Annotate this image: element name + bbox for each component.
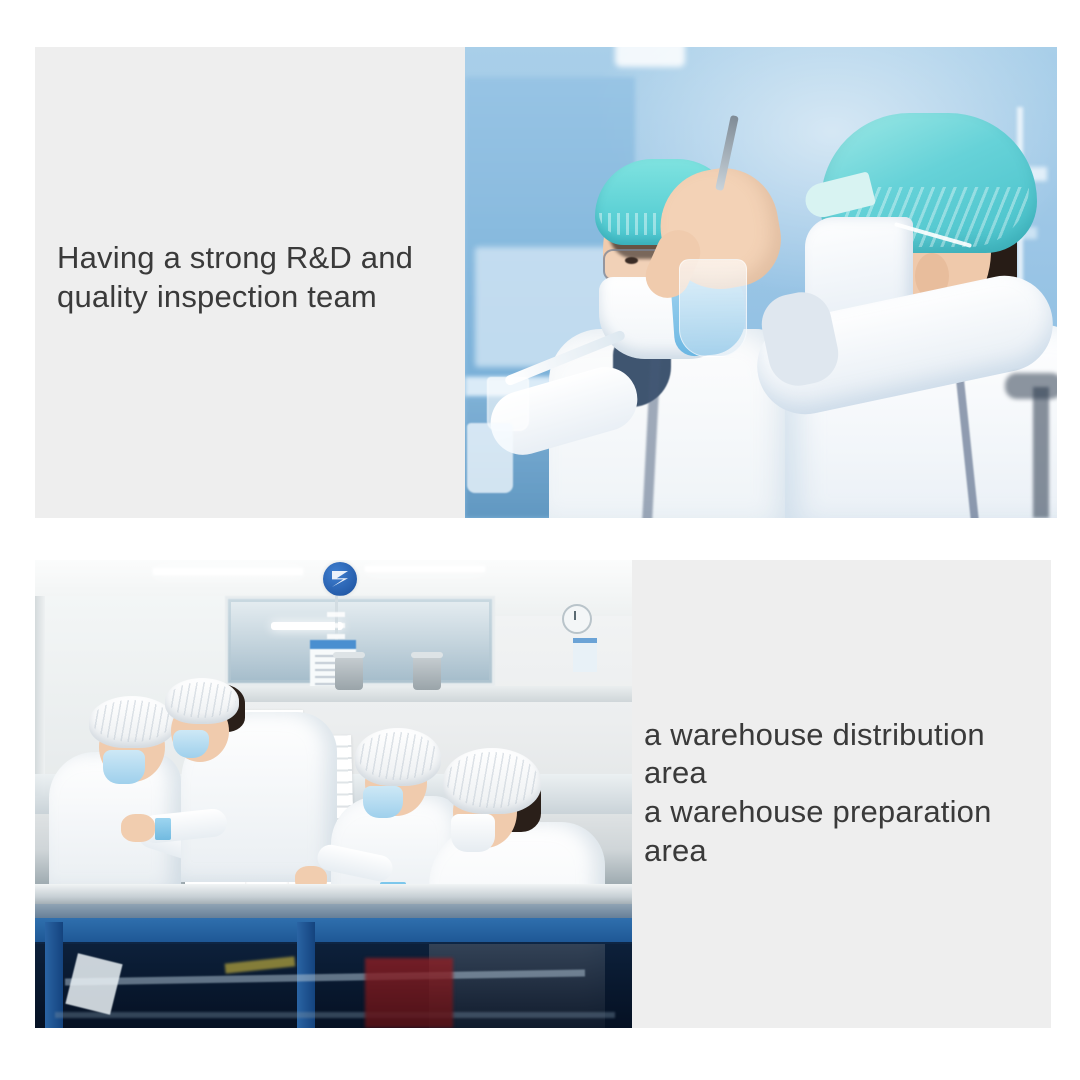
caption-text-rnd: Having a strong R&D and quality inspecti… [35,239,423,317]
lab-quality-inspection-photo [465,47,1057,518]
face-mask-icon [103,750,145,784]
table-cross-bar [55,1012,615,1018]
red-crate [365,958,453,1028]
work-table-blue-frame [35,918,632,944]
wall-clock-icon [562,604,592,634]
eye [625,257,638,264]
ceiling-light-icon [615,47,685,67]
caption-text-warehouse: a warehouse distribution area a warehous… [632,716,1051,871]
wall-poster [573,638,597,672]
blue-card [155,818,171,840]
section-warehouse: a warehouse distribution area a warehous… [35,560,1051,1028]
stainless-pot [413,656,441,690]
stool-seat [1005,373,1057,399]
face-mask-icon [173,730,209,758]
caption-panel-rnd: Having a strong R&D and quality inspecti… [35,47,465,518]
beaker-icon [467,423,513,493]
hairnet-icon [165,678,239,724]
hand [121,814,155,842]
stool-post [1033,387,1049,518]
company-logo-icon [323,562,357,596]
poster-canvas: Having a strong R&D and quality inspecti… [0,0,1080,1080]
wall-edge [35,596,45,796]
face-mask-icon [451,814,495,852]
flask-icon [679,259,747,357]
work-table-top [35,884,632,906]
ceiling-light-icon [153,568,303,575]
caption-panel-warehouse: a warehouse distribution area a warehous… [632,560,1051,1028]
warehouse-worker-2 [163,656,343,888]
face-mask-icon [363,786,403,818]
ceiling-light-icon [365,566,485,572]
hairnet-icon [443,748,541,814]
section-rnd-quality: Having a strong R&D and quality inspecti… [35,47,1057,518]
warehouse-packing-photo [35,560,632,1028]
